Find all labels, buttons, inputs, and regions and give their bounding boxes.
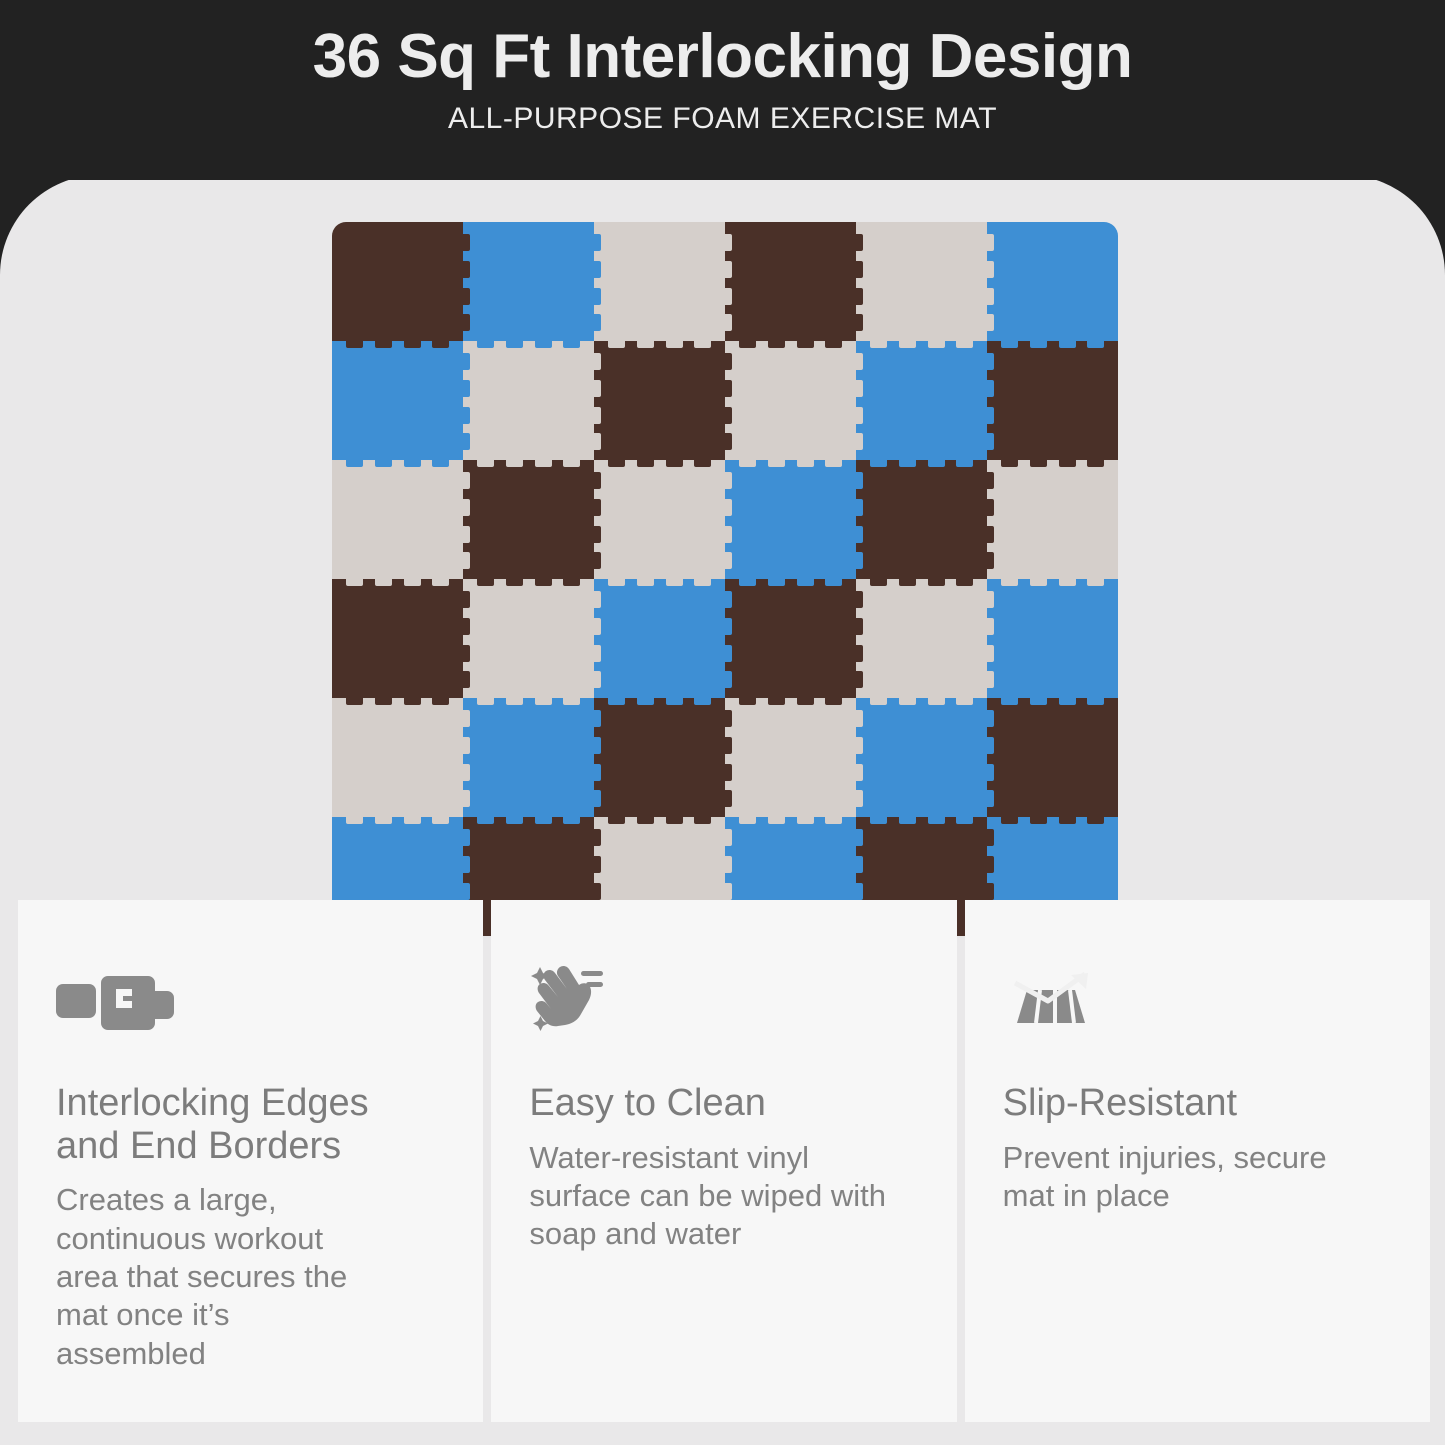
mat-tile [594,222,725,341]
mat-tile [332,460,463,579]
header-banner: 36 Sq Ft Interlocking Design ALL-PURPOSE… [0,0,1445,180]
mat-tile [987,579,1118,698]
feature-body: Water-resistant vinyl surface can be wip… [529,1139,916,1254]
product-mat-image [332,222,1118,936]
mat-tile [856,341,987,460]
mat-tile [987,222,1118,341]
mat-tile [987,698,1118,817]
mat-tile [594,579,725,698]
mat-tile [463,341,594,460]
page-title: 36 Sq Ft Interlocking Design [0,0,1445,88]
mat-tile [332,698,463,817]
mat-tile [332,341,463,460]
interlocking-tiles-icon [56,962,443,1040]
feature-card-interlocking-edges: Interlocking Edges and End Borders Creat… [18,900,483,1422]
mat-tile [594,460,725,579]
feature-card-list: Interlocking Edges and End Borders Creat… [18,900,1430,1422]
mat-tile [856,222,987,341]
mat-tile [987,460,1118,579]
feature-body: Creates a large, continuous workout area… [56,1181,386,1373]
mat-tile [332,579,463,698]
feature-body: Prevent injuries, secure mat in place [1003,1139,1333,1216]
feature-heading: Easy to Clean [529,1082,916,1125]
mat-tile [463,698,594,817]
mat-tile [332,222,463,341]
feature-heading: Interlocking Edges and End Borders [56,1082,396,1167]
interlocking-tile-grid [332,222,1118,936]
feature-card-slip-resistant: Slip-Resistant Prevent injuries, secure … [965,900,1430,1422]
mat-tile [725,579,856,698]
cleaning-hand-icon [529,962,916,1040]
slip-resistant-mat-icon [1003,962,1390,1040]
mat-tile [725,222,856,341]
mat-tile [463,579,594,698]
mat-tile [725,698,856,817]
feature-card-easy-to-clean: Easy to Clean Water-resistant vinyl surf… [491,900,956,1422]
mat-tile [987,341,1118,460]
mat-tile [594,698,725,817]
mat-tile [856,698,987,817]
mat-tile [463,222,594,341]
page-subtitle: ALL-PURPOSE FOAM EXERCISE MAT [0,88,1445,134]
mat-tile [463,460,594,579]
mat-tile [725,460,856,579]
feature-heading: Slip-Resistant [1003,1082,1390,1125]
mat-tile [856,460,987,579]
mat-tile [594,341,725,460]
mat-tile [725,341,856,460]
mat-tile [856,579,987,698]
